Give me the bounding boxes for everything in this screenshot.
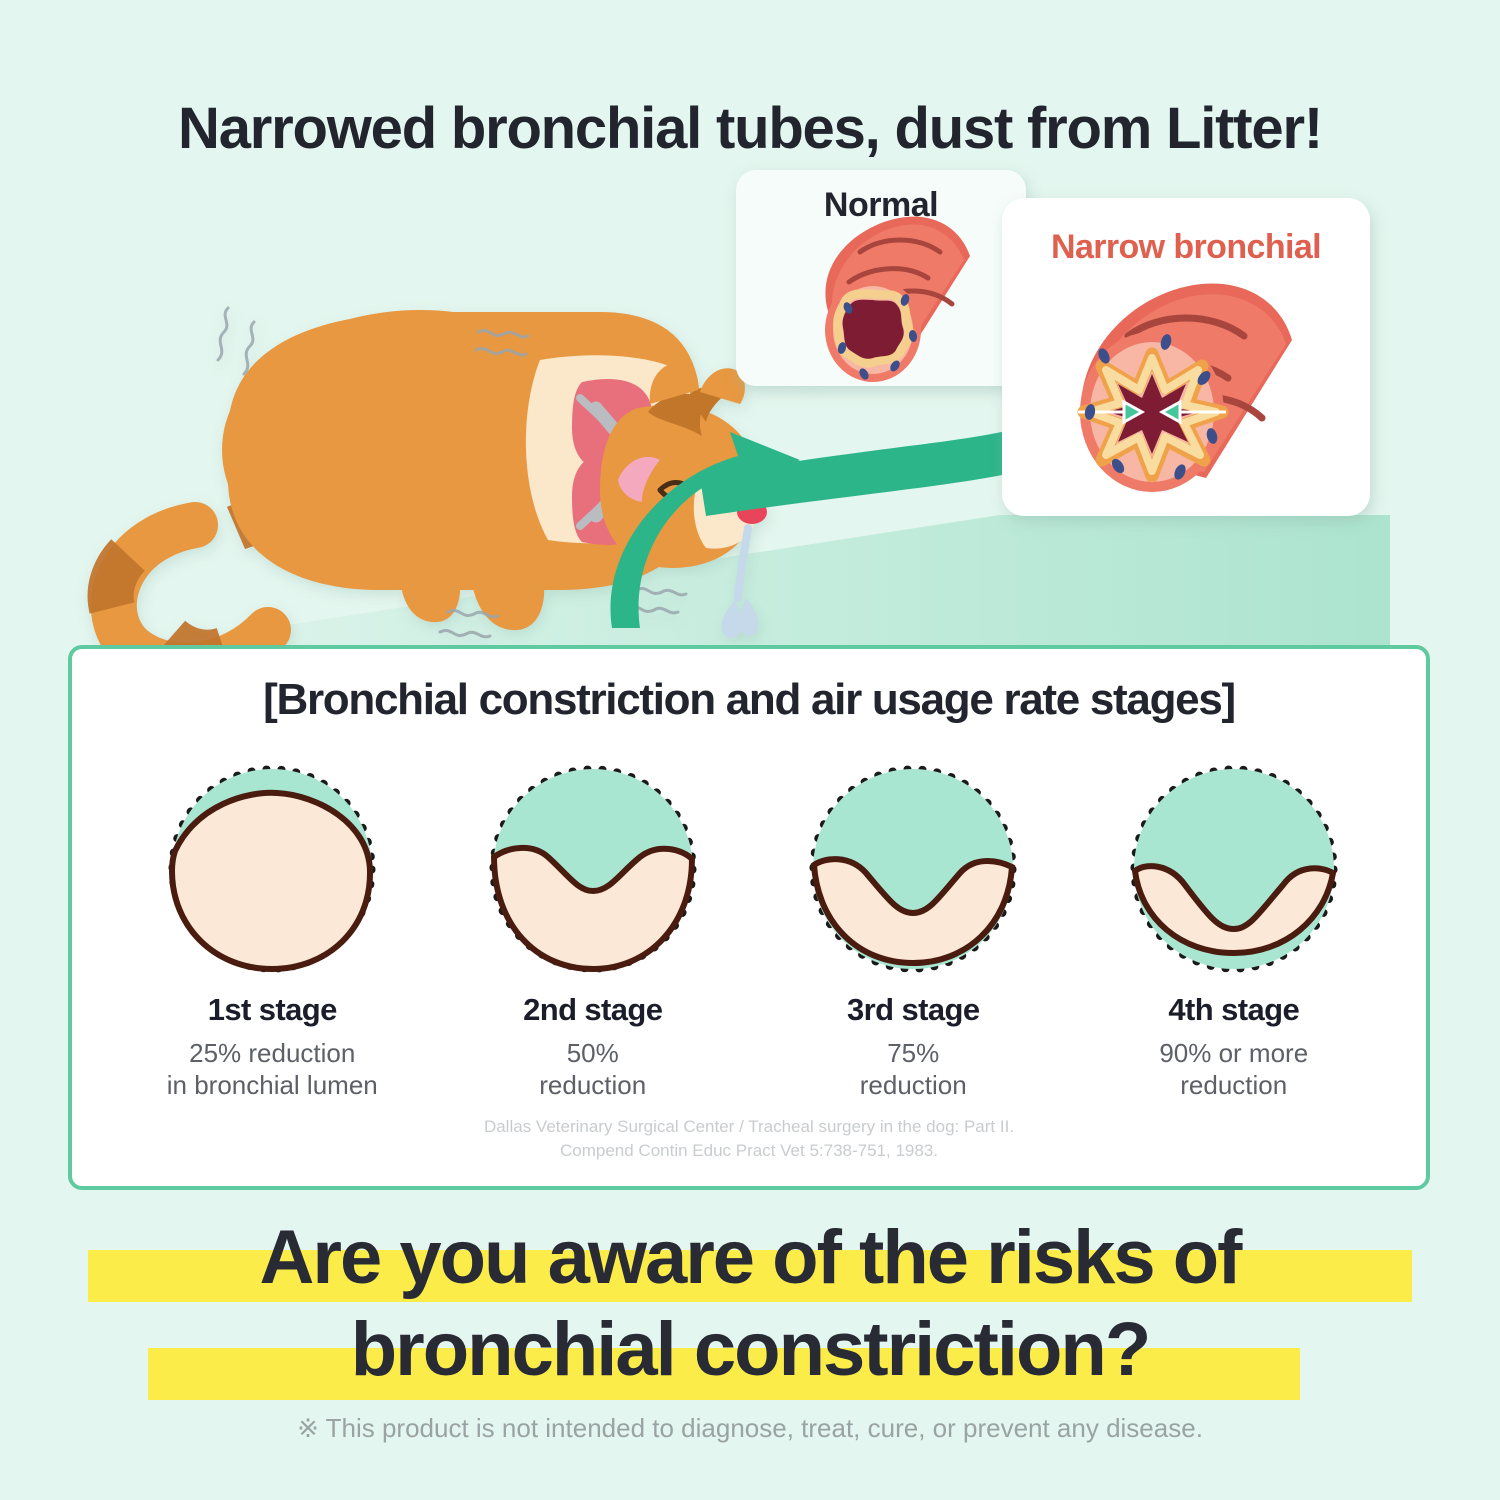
stage-desc-line2: reduction [860, 1070, 967, 1100]
stage-3-figure [798, 761, 1028, 976]
stage-name: 3rd stage [847, 992, 979, 1028]
citation: Dallas Veterinary Surgical Center / Trac… [72, 1115, 1426, 1164]
citation-line2: Compend Contin Educ Pract Vet 5:738-751,… [560, 1141, 938, 1160]
stage-desc: 50% reduction [539, 1038, 646, 1101]
stage-desc: 90% or more reduction [1159, 1038, 1308, 1101]
disclaimer-text: ※ This product is not intended to diagno… [0, 1413, 1500, 1444]
stage-desc-line1: 50% [567, 1038, 619, 1068]
stage-desc-line1: 90% or more [1159, 1038, 1308, 1068]
stage-desc-line1: 75% [887, 1038, 939, 1068]
cta-headline: Are you aware of the risks of bronchial … [0, 1212, 1500, 1396]
narrow-card-label: Narrow bronchial [1004, 228, 1368, 267]
stage-desc-line2: reduction [1180, 1070, 1287, 1100]
stage-name: 1st stage [208, 992, 337, 1028]
cta-text-2: bronchial constriction? [351, 1304, 1150, 1396]
cta-text-1: Are you aware of the risks of [260, 1212, 1241, 1304]
citation-line1: Dallas Veterinary Surgical Center / Trac… [484, 1117, 1014, 1136]
stage-desc: 75% reduction [860, 1038, 967, 1101]
stage-item: 2nd stage 50% reduction [433, 761, 754, 1101]
infographic-root: Narrowed bronchial tubes, dust from Litt… [0, 0, 1500, 1500]
stage-name: 2nd stage [523, 992, 662, 1028]
stage-list: 1st stage 25% reduction in bronchial lum… [112, 761, 1394, 1101]
stage-item: 4th stage 90% or more reduction [1074, 761, 1395, 1101]
stage-1-figure [157, 761, 387, 976]
stage-panel: [Bronchial constriction and air usage ra… [68, 645, 1430, 1190]
stage-2-figure [478, 761, 708, 976]
stage-name: 4th stage [1168, 992, 1299, 1028]
stage-4-figure [1119, 761, 1349, 976]
stage-item: 3rd stage 75% reduction [753, 761, 1074, 1101]
cta-line-1: Are you aware of the risks of [0, 1212, 1500, 1304]
stage-item: 1st stage 25% reduction in bronchial lum… [112, 761, 433, 1101]
normal-card-label: Normal [738, 186, 1024, 225]
stage-desc-line2: in bronchial lumen [167, 1070, 378, 1100]
stage-desc: 25% reduction in bronchial lumen [167, 1038, 378, 1101]
page-title: Narrowed bronchial tubes, dust from Litt… [0, 95, 1500, 162]
stage-desc-line2: reduction [539, 1070, 646, 1100]
stage-desc-line1: 25% reduction [189, 1038, 355, 1068]
stage-panel-heading: [Bronchial constriction and air usage ra… [72, 675, 1426, 725]
cta-line-2: bronchial constriction? [0, 1304, 1500, 1396]
